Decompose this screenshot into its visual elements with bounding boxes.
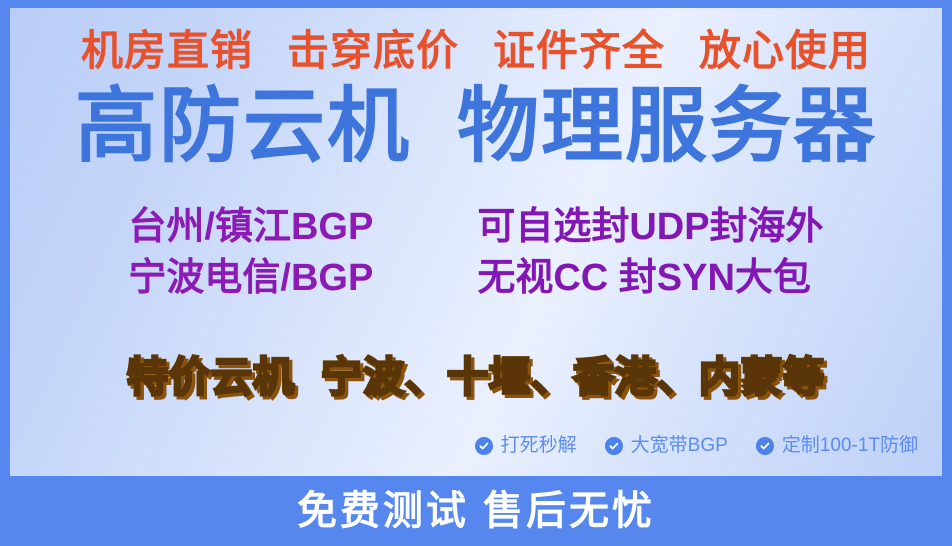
check-circle-icon xyxy=(475,437,493,455)
footer-tagline: 免费测试 售后无忧 xyxy=(297,491,655,531)
headline-product-physical: 物理服务器 xyxy=(457,86,877,168)
feature-label-2: 大宽带BGP xyxy=(631,436,728,455)
feature-row: 打死秒解 大宽带BGP 定制100-1T防御 xyxy=(10,436,942,455)
slogan-item-4: 放心使用 xyxy=(699,30,871,72)
feature-item-3: 定制100-1T防御 xyxy=(756,436,918,455)
feature-item-1: 打死秒解 xyxy=(475,436,577,455)
headline-product-cloud: 高防云机 xyxy=(75,86,411,168)
gold-label-deal: 特价云机 xyxy=(127,355,295,399)
spec-location-2: 宁波电信/BGP xyxy=(128,257,373,300)
headline-row: 高防云机 物理服务器 xyxy=(10,86,942,168)
slogan-item-1: 机房直销 xyxy=(81,30,253,72)
feature-label-1: 打死秒解 xyxy=(501,436,577,455)
spec-protection-1: 可自选封UDP封海外 xyxy=(477,206,823,249)
promo-banner: 机房直销 击穿底价 证件齐全 放心使用 高防云机 物理服务器 台州/镇江BGP … xyxy=(0,0,952,546)
check-circle-icon xyxy=(756,437,774,455)
gold-label-regions: 宁波、十堰、香港、内蒙等 xyxy=(321,355,825,399)
spec-column-protection: 可自选封UDP封海外 无视CC 封SYN大包 xyxy=(477,206,823,299)
check-circle-icon xyxy=(605,437,623,455)
spec-columns: 台州/镇江BGP 宁波电信/BGP 可自选封UDP封海外 无视CC 封SYN大包 xyxy=(10,206,942,299)
feature-label-3: 定制100-1T防御 xyxy=(782,436,918,455)
spec-column-locations: 台州/镇江BGP 宁波电信/BGP xyxy=(128,206,373,299)
footer-bar: 免费测试 售后无忧 xyxy=(0,476,952,546)
spec-protection-2: 无视CC 封SYN大包 xyxy=(477,257,823,300)
feature-item-2: 大宽带BGP xyxy=(605,436,728,455)
slogan-item-2: 击穿底价 xyxy=(287,30,459,72)
gold-highlight-row: 特价云机 宁波、十堰、香港、内蒙等 xyxy=(10,355,942,399)
spec-location-1: 台州/镇江BGP xyxy=(128,206,373,249)
slogan-row: 机房直销 击穿底价 证件齐全 放心使用 xyxy=(10,30,942,72)
slogan-item-3: 证件齐全 xyxy=(493,30,665,72)
